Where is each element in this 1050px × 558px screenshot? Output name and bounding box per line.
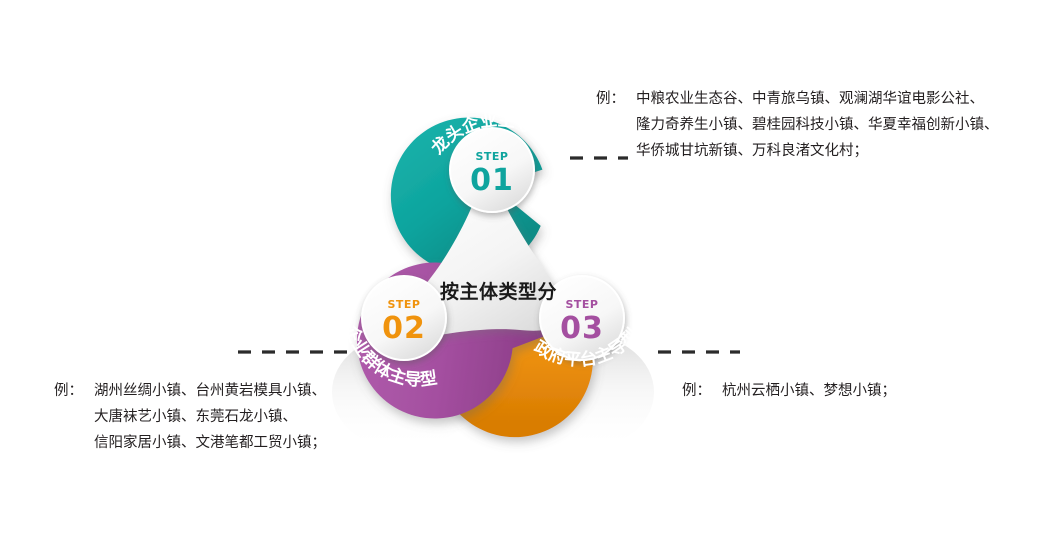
note-top-lead: 例： bbox=[596, 86, 636, 112]
node-03-step-label: STEP bbox=[565, 298, 598, 311]
note-left-line-1: 例：湖州丝绸小镇、台州黄岩模具小镇、 bbox=[54, 378, 326, 404]
note-top: 例：中粮农业生态谷、中青旅乌镇、观澜湖华谊电影公社、 隆力奇养生小镇、碧桂园科技… bbox=[596, 86, 999, 164]
node-02-step-label: STEP bbox=[387, 298, 420, 311]
center-title: 按主体类型分 bbox=[440, 280, 557, 303]
node-03-number: 03 bbox=[560, 311, 604, 346]
diagram-canvas: STEP 01 STEP 02 STEP 03 龙头企业主导型 企业群体主导型 … bbox=[0, 0, 1050, 558]
note-right-line-1: 例：杭州云栖小镇、梦想小镇； bbox=[682, 378, 896, 404]
node-01-number: 01 bbox=[470, 163, 514, 198]
note-top-text-1: 中粮农业生态谷、中青旅乌镇、观澜湖华谊电影公社、 bbox=[636, 91, 984, 107]
note-left-lead: 例： bbox=[54, 378, 94, 404]
note-left-line-2: 大唐袜艺小镇、东莞石龙小镇、 bbox=[54, 404, 326, 430]
note-top-line-1: 例：中粮农业生态谷、中青旅乌镇、观澜湖华谊电影公社、 bbox=[596, 86, 999, 112]
note-right-lead: 例： bbox=[682, 378, 722, 404]
note-top-line-2: 隆力奇养生小镇、碧桂园科技小镇、华夏幸福创新小镇、 bbox=[596, 112, 999, 138]
note-right-text-1: 杭州云栖小镇、梦想小镇； bbox=[722, 383, 896, 399]
node-03-hub-text: STEP 03 bbox=[560, 298, 604, 346]
note-left-text-1: 湖州丝绸小镇、台州黄岩模具小镇、 bbox=[94, 383, 326, 399]
diagram-graphic: STEP 01 STEP 02 STEP 03 龙头企业主导型 企业群体主导型 … bbox=[0, 0, 1050, 558]
node-01-step-label: STEP bbox=[475, 150, 508, 163]
node-02-number: 02 bbox=[382, 311, 426, 346]
note-top-line-3: 华侨城甘坑新镇、万科良渚文化村； bbox=[596, 138, 999, 164]
note-right: 例：杭州云栖小镇、梦想小镇； bbox=[682, 378, 896, 404]
node-02-hub-text: STEP 02 bbox=[382, 298, 426, 346]
node-01-hub-text: STEP 01 bbox=[470, 150, 514, 198]
note-left-line-3: 信阳家居小镇、文港笔都工贸小镇； bbox=[54, 430, 326, 456]
note-left: 例：湖州丝绸小镇、台州黄岩模具小镇、 大唐袜艺小镇、东莞石龙小镇、 信阳家居小镇… bbox=[54, 378, 326, 456]
